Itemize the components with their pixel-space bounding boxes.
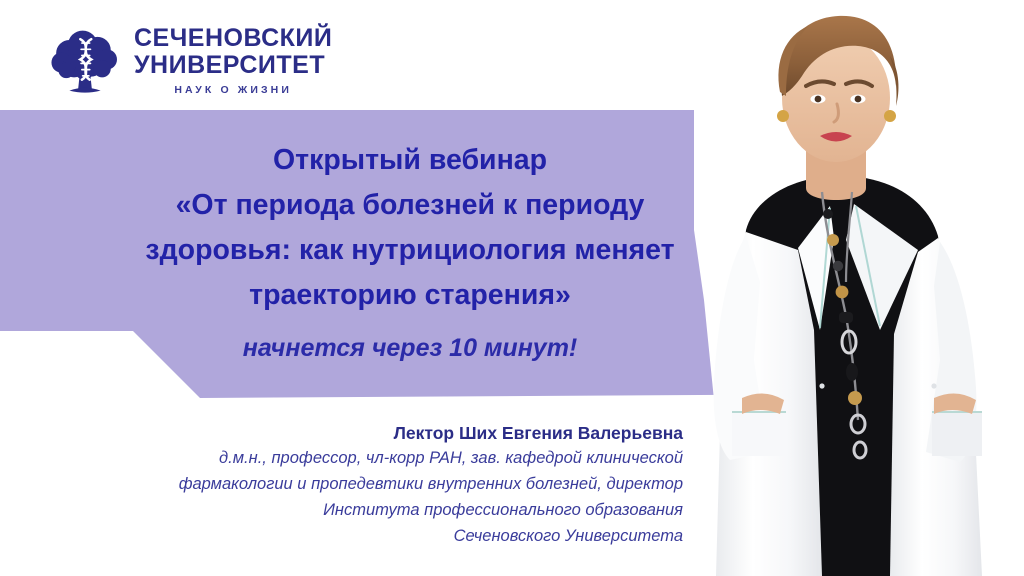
title-line-3: здоровья: как нутрициология меняет: [110, 228, 710, 273]
logo-tagline: НАУК О ЖИЗНИ: [134, 85, 332, 96]
webinar-announcement-slide: СЕЧЕНОВСКИЙ УНИВЕРСИТЕТ НАУК О ЖИЗНИ Отк…: [0, 0, 1024, 576]
lecturer-credentials-line-1: д.м.н., профессор, чл-корр РАН, зав. каф…: [60, 445, 683, 471]
lecturer-info-block: Лектор Ших Евгения Валерьевна д.м.н., пр…: [60, 421, 683, 549]
lecturer-photo: [694, 0, 1024, 576]
sechenov-university-logo: СЕЧЕНОВСКИЙ УНИВЕРСИТЕТ НАУК О ЖИЗНИ: [46, 22, 332, 100]
start-countdown-text: начнется через 10 минут!: [110, 326, 710, 370]
lecturer-credentials-line-2: фармакологии и пропедевтики внутренних б…: [60, 471, 683, 497]
lecturer-name: Лектор Ших Евгения Валерьевна: [60, 421, 683, 445]
title-line-4: траекторию старения»: [110, 273, 710, 318]
logo-name-line-2: УНИВЕРСИТЕТ: [134, 53, 332, 78]
logo-name-line-1: СЕЧЕНОВСКИЙ: [134, 26, 332, 51]
webinar-title-block: Открытый вебинар «От периода болезней к …: [110, 138, 710, 370]
lecturer-credentials-line-3: Института профессионального образования: [60, 497, 683, 523]
title-line-1: Открытый вебинар: [110, 138, 710, 183]
title-line-2: «От периода болезней к периоду: [110, 183, 710, 228]
lecturer-credentials-line-4: Сеченовского Университета: [60, 523, 683, 549]
tree-dna-logo-icon: [46, 22, 124, 100]
